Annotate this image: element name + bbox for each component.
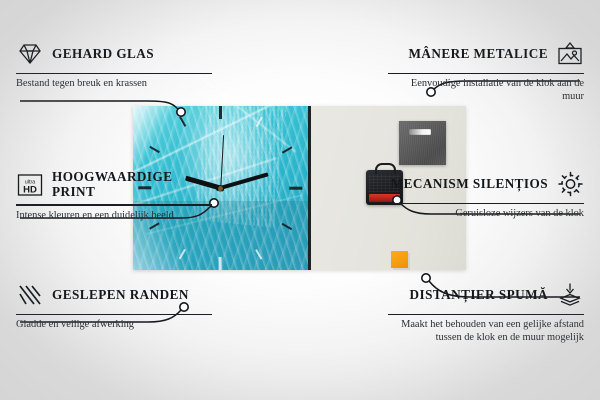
clock-tick <box>149 223 159 230</box>
callout-rule <box>16 73 212 74</box>
ultra-hd-icon: ultra HD <box>16 171 44 199</box>
callout-description: Eenvoudige installatie van de klok aan d… <box>388 78 584 103</box>
clock-tick <box>149 146 159 153</box>
gear-icon <box>556 170 584 198</box>
clock-tick <box>219 106 222 119</box>
clock-tick <box>282 146 292 153</box>
clock-tick <box>255 117 262 127</box>
callout-geslepen-randen: GESLEPEN RANDEN Gladde en veilige afwerk… <box>16 281 212 332</box>
callout-manere-metalice: MÂNERE METALICE Eenvoudige installatie v… <box>388 40 584 103</box>
callout-description: Gladde en veilige afwerking <box>16 319 212 331</box>
callout-hoogwaardige-print: ultra HD HOOGWAARDIGE PRINT Intense kleu… <box>16 170 212 222</box>
callout-rule <box>388 314 584 315</box>
callout-gehard-glas: GEHARD GLAS Bestand tegen breuk en krass… <box>16 40 212 91</box>
callout-rule <box>16 204 212 205</box>
callout-mecanism-silentios: MECANISM SILENȚIOS Geruisloze wijzers va… <box>388 170 584 221</box>
callout-rule <box>388 203 584 204</box>
callout-rule <box>16 314 212 315</box>
callout-title: DISTANȚIER SPUMĂ <box>388 288 548 303</box>
callout-distantier-spuma: DISTANȚIER SPUMĂ Maakt het behouden van … <box>388 281 584 344</box>
svg-text:HD: HD <box>23 184 37 195</box>
callout-title: GESLEPEN RANDEN <box>52 288 212 303</box>
clock-tick <box>290 187 303 190</box>
infographic-stage: GEHARD GLAS Bestand tegen breuk en krass… <box>0 0 600 400</box>
callout-rule <box>388 73 584 74</box>
callout-title: MECANISM SILENȚIOS <box>388 177 548 192</box>
hanging-picture-frame-icon <box>556 40 584 68</box>
foam-spacer <box>391 251 408 268</box>
metal-hanger-plate <box>399 121 446 165</box>
callout-title: GEHARD GLAS <box>52 47 212 62</box>
clock-tick <box>219 257 222 270</box>
clock-tick <box>179 249 186 259</box>
clock-tick <box>179 117 186 127</box>
diagonal-lines-icon <box>16 281 44 309</box>
callout-description: Intense kleuren en een duidelijk beeld <box>16 210 212 222</box>
callout-description: Maakt het behouden van een gelijke afsta… <box>388 319 584 344</box>
callout-description: Geruisloze wijzers van de klok <box>388 208 584 220</box>
clock-tick <box>282 223 292 230</box>
second-hand <box>220 135 224 191</box>
arrow-onto-layers-icon <box>556 281 584 309</box>
callout-title: HOOGWAARDIGE PRINT <box>52 170 212 199</box>
hanger-slot <box>409 129 431 135</box>
clock-hub <box>218 186 223 191</box>
diamond-icon <box>16 40 44 68</box>
clock-tick <box>255 249 262 259</box>
callout-title: MÂNERE METALICE <box>388 47 548 62</box>
callout-description: Bestand tegen breuk en krassen <box>16 78 212 90</box>
